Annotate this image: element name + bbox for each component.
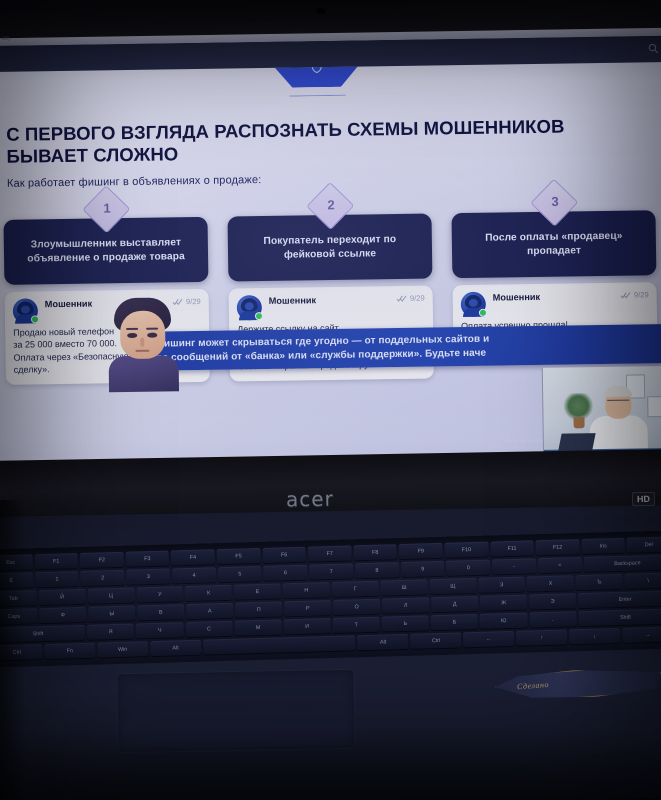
page-subtitle: Как работает фишинг в объявлениях о прод…	[7, 174, 262, 190]
key-3[interactable]: 3	[126, 568, 170, 584]
keyboard[interactable]: EscF1F2F3F4F5F6F7F8F9F10F11F12InsDelЁ123…	[0, 530, 661, 667]
double-check-icon	[397, 295, 407, 302]
key-4[interactable]: 4	[172, 567, 216, 583]
search-icon[interactable]	[648, 43, 659, 54]
bezel-corner-text: 40)	[2, 36, 10, 42]
key--[interactable]: ↑	[516, 629, 567, 645]
key-я[interactable]: Я	[87, 624, 135, 640]
hd-badge: HD	[632, 492, 655, 506]
key-г[interactable]: Г	[332, 581, 379, 597]
key-ь[interactable]: Ь	[382, 615, 430, 631]
key-f3[interactable]: F3	[125, 551, 169, 567]
key-д[interactable]: Д	[431, 596, 478, 612]
key-л[interactable]: Л	[382, 597, 429, 613]
key-ins[interactable]: Ins	[581, 538, 625, 554]
key--[interactable]: ↓	[569, 628, 620, 644]
webcam-icon	[316, 8, 326, 14]
timestamp-text: 9/29	[410, 294, 425, 303]
acer-logo: acer	[286, 487, 334, 512]
key--[interactable]: ←	[463, 631, 514, 647]
key-х[interactable]: Х	[527, 575, 574, 591]
step-card-3: 3 После оплаты «продавец» пропадает 9/29	[451, 198, 657, 340]
key-0[interactable]: 0	[446, 560, 490, 576]
key-5[interactable]: 5	[218, 566, 262, 582]
message-timestamp: 9/29	[621, 290, 649, 299]
key-р[interactable]: Р	[284, 600, 331, 616]
key-а[interactable]: А	[186, 603, 233, 619]
key-win[interactable]: Win	[97, 641, 148, 657]
key-fn[interactable]: Fn	[44, 643, 95, 659]
key-f2[interactable]: F2	[80, 552, 124, 568]
key-э[interactable]: Э	[529, 593, 576, 609]
key--[interactable]: =	[538, 557, 582, 573]
warning-banner: Фишинг может скрываться где угодно — от …	[143, 324, 661, 371]
key-9[interactable]: 9	[401, 561, 445, 577]
online-dot-icon	[31, 315, 39, 323]
double-check-icon	[621, 292, 631, 299]
key-backspace[interactable]: Backspace	[583, 554, 661, 571]
male-character-illustration	[106, 297, 181, 390]
hacker-avatar-icon	[13, 298, 38, 323]
online-dot-icon	[255, 312, 263, 320]
key-ж[interactable]: Ж	[480, 595, 527, 611]
key-у[interactable]: У	[136, 586, 183, 602]
timestamp-text: 9/29	[186, 297, 201, 306]
key-shift[interactable]: Shift	[578, 608, 661, 626]
key-1[interactable]: 1	[35, 571, 79, 587]
key-f5[interactable]: F5	[217, 548, 261, 564]
key-щ[interactable]: Щ	[429, 578, 476, 594]
laptop-screen: С ПЕРВОГО ВЗГЛЯДА РАСПОЗНАТЬ СХЕМЫ МОШЕН…	[0, 36, 661, 466]
key-ы[interactable]: Ы	[88, 605, 135, 621]
key-ю[interactable]: Ю	[480, 613, 528, 629]
key-ctrl[interactable]: Ctrl	[410, 632, 461, 648]
key-ш[interactable]: Ш	[380, 579, 427, 595]
key-f6[interactable]: F6	[262, 547, 306, 563]
key-f1[interactable]: F1	[34, 553, 78, 569]
key-н[interactable]: Н	[283, 582, 330, 598]
message-timestamp: 9/29	[397, 294, 425, 303]
key-7[interactable]: 7	[309, 563, 353, 579]
key-ъ[interactable]: Ъ	[576, 574, 623, 590]
hacker-avatar-icon	[237, 295, 262, 320]
key-б[interactable]: Б	[431, 614, 479, 630]
step-badge-label: 1	[91, 193, 123, 223]
step-badge-label: 3	[539, 187, 571, 217]
laptop-photo-scene: 40) С ПЕРВОГО ВЗГЛЯДА РАСПОЗНАТЬ СХЕМЫ М…	[0, 0, 661, 800]
key-alt[interactable]: Alt	[357, 634, 408, 650]
key-f7[interactable]: F7	[308, 545, 352, 561]
key-ц[interactable]: Ц	[87, 587, 134, 603]
warning-banner-text: Фишинг может скрываться где угодно — от …	[143, 324, 661, 371]
key-о[interactable]: О	[333, 599, 380, 615]
key-ф[interactable]: Ф	[39, 607, 86, 623]
online-dot-icon	[479, 309, 487, 317]
key-е[interactable]: Е	[234, 583, 281, 599]
key-alt[interactable]: Alt	[150, 640, 201, 656]
key-с[interactable]: С	[185, 621, 233, 637]
step-badge-label: 2	[315, 190, 347, 220]
key-п[interactable]: П	[235, 601, 282, 617]
key--[interactable]: -	[492, 558, 536, 574]
key-f10[interactable]: F10	[444, 542, 488, 558]
key-ч[interactable]: Ч	[136, 622, 184, 638]
key-enter[interactable]: Enter	[578, 590, 661, 608]
key-f4[interactable]: F4	[171, 549, 215, 565]
key-к[interactable]: К	[185, 585, 232, 601]
key-f11[interactable]: F11	[490, 540, 534, 556]
key-2[interactable]: 2	[81, 570, 125, 586]
key-del[interactable]: Del	[627, 537, 661, 553]
key-з[interactable]: З	[478, 577, 525, 593]
key-6[interactable]: 6	[263, 565, 307, 581]
key--[interactable]: →	[622, 626, 661, 642]
page-title: С ПЕРВОГО ВЗГЛЯДА РАСПОЗНАТЬ СХЕМЫ МОШЕН…	[6, 115, 625, 168]
key-space[interactable]	[203, 635, 356, 654]
timestamp-text: 9/29	[634, 290, 649, 299]
key-м[interactable]: М	[234, 619, 282, 635]
key-f9[interactable]: F9	[399, 543, 443, 559]
key-в[interactable]: В	[137, 604, 184, 620]
key-8[interactable]: 8	[355, 562, 399, 578]
key-т[interactable]: Т	[333, 617, 381, 633]
key-f8[interactable]: F8	[353, 544, 397, 560]
hacker-avatar-icon	[461, 292, 486, 317]
key-и[interactable]: И	[283, 618, 331, 634]
key--[interactable]: \	[625, 572, 661, 588]
key-f12[interactable]: F12	[536, 539, 580, 555]
key-й[interactable]: Й	[38, 589, 85, 605]
key--[interactable]: .	[529, 611, 577, 627]
